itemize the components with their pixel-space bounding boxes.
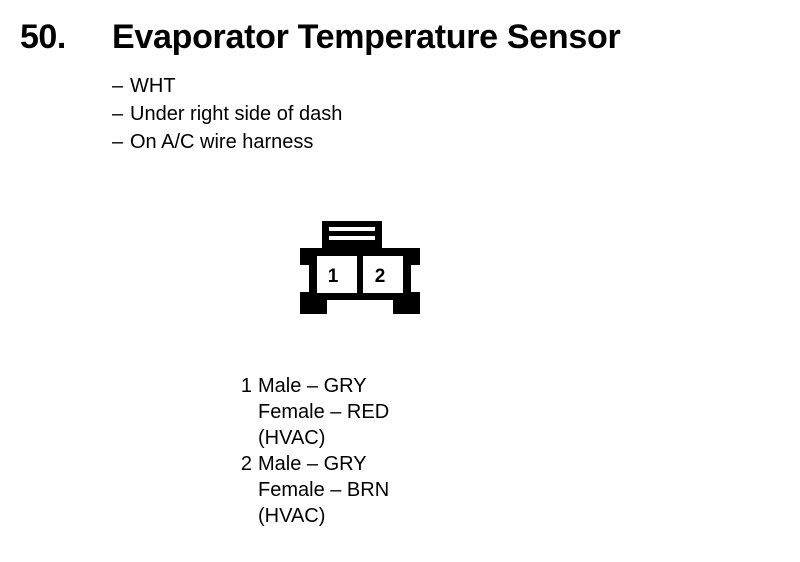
cavity-label-1: 1 [328,266,339,287]
header-item-number: 50. [20,16,66,58]
page-title: Evaporator Temperature Sensor [112,16,620,58]
pin-legend-group-1: 1 Male – GRY Female – RED (HVAC) [232,373,532,451]
pin-legend-row: (HVAC) [232,503,532,529]
pin-legend-label: Female – RED [258,399,389,425]
locking-tab-slot-upper [329,227,375,231]
note-item-label: WHT [130,72,176,100]
pin-legend-row: (HVAC) [232,425,532,451]
connector-notes-list: – WHT – Under right side of dash – On A/… [112,72,532,156]
pin-legend-row: 1 Male – GRY [232,373,532,399]
pin-legend-label: (HVAC) [258,503,325,529]
note-item-label: On A/C wire harness [130,128,313,156]
en-dash-icon: – [112,128,130,156]
en-dash-icon: – [112,100,130,128]
pin-legend-row: 2 Male – GRY [232,451,532,477]
page-header: 50. Evaporator Temperature Sensor [0,16,800,62]
connector-locking-tab [322,221,382,248]
note-item-label: Under right side of dash [130,100,342,128]
connector-outline-svg: 1 2 [297,220,423,316]
connector-diagram: 1 2 [297,220,423,316]
note-item: – On A/C wire harness [112,128,532,156]
note-item: – WHT [112,72,532,100]
pin-legend-label: Male – GRY [258,373,367,399]
en-dash-icon: – [112,72,130,100]
pin-legend-row: Female – BRN [232,477,532,503]
locking-tab-slot-lower [329,236,375,240]
pin-legend-group-2: 2 Male – GRY Female – BRN (HVAC) [232,451,532,529]
pin-legend-index: 1 [232,373,252,399]
pin-legend-index: 2 [232,451,252,477]
pin-legend-row: Female – RED [232,399,532,425]
pin-legend: 1 Male – GRY Female – RED (HVAC) 2 Male … [232,373,532,529]
pin-legend-label: Male – GRY [258,451,367,477]
cavity-label-2: 2 [375,266,386,287]
pin-legend-label: Female – BRN [258,477,389,503]
note-item: – Under right side of dash [112,100,532,128]
pin-legend-label: (HVAC) [258,425,325,451]
